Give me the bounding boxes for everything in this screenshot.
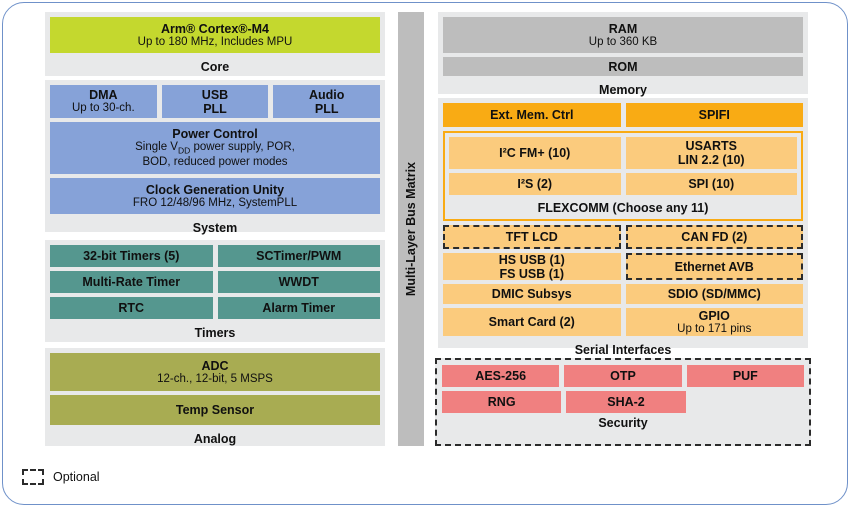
block-32bit-timers-label: 32-bit Timers (5) [83,249,179,263]
block-usb-line2: FS USB (1) [499,267,564,281]
bus-matrix-label: Multi-Layer Bus Matrix [404,162,418,296]
group-timers-title: Timers [50,323,380,345]
security-row-2: RNG SHA-2 [442,391,804,413]
block-temp-sensor[interactable]: Temp Sensor [50,395,380,425]
timers-left-col: 32-bit Timers (5) Multi-Rate Timer RTC [50,245,213,323]
block-puf-label: PUF [733,369,758,383]
block-ethernet-avb[interactable]: Ethernet AVB [626,253,804,280]
block-ram[interactable]: RAM Up to 360 KB [443,17,803,53]
block-i2c-fm-plus[interactable]: I²C FM+ (10) [449,137,621,169]
block-dma-line1: DMA [89,88,117,102]
block-i2s[interactable]: I²S (2) [449,173,621,195]
block-cortex-m4[interactable]: Arm® Cortex®-M4 Up to 180 MHz, Includes … [50,17,380,53]
block-smart-card-label: Smart Card (2) [489,315,575,329]
timers-right-col: SCTimer/PWM WWDT Alarm Timer [218,245,381,323]
block-ethernet-avb-label: Ethernet AVB [675,260,754,274]
block-clock-line2: FRO 12/48/96 MHz, SystemPLL [133,197,297,210]
block-ext-mem-ctrl-label: Ext. Mem. Ctrl [490,108,573,122]
block-usb-pll-line1: USB [202,88,228,102]
block-ram-line1: RAM [609,22,637,36]
block-aes-256-label: AES-256 [475,369,526,383]
block-multi-rate-timer[interactable]: Multi-Rate Timer [50,271,213,293]
diagram-canvas: Arm® Cortex®-M4 Up to 180 MHz, Includes … [0,0,850,507]
flexcomm-title: FLEXCOMM (Choose any 11) [449,199,797,219]
block-spifi-label: SPIFI [699,108,730,122]
flexcomm-container: I²C FM+ (10) I²S (2) USARTS LIN 2.2 (10)… [443,131,803,221]
block-wwdt-label: WWDT [279,275,319,289]
block-dma-line2: Up to 30-ch. [72,102,135,115]
block-adc-line1: ADC [201,359,228,373]
block-rng[interactable]: RNG [442,391,561,413]
block-sha-2[interactable]: SHA-2 [566,391,685,413]
group-system: DMA Up to 30-ch. USB PLL Audio PLL Power… [45,80,385,232]
interfaces-right-col: CAN FD (2) Ethernet AVB SDIO (SD/MMC) GP… [626,225,804,340]
interfaces-left-col: TFT LCD HS USB (1) FS USB (1) DMIC Subsy… [443,225,621,340]
block-ram-line2: Up to 360 KB [589,36,657,49]
interfaces-rows: TFT LCD HS USB (1) FS USB (1) DMIC Subsy… [443,225,803,340]
block-spi-label: SPI (10) [688,177,734,191]
block-can-fd-label: CAN FD (2) [681,230,747,244]
block-i2c-fm-plus-label: I²C FM+ (10) [499,146,570,160]
block-usb-pll[interactable]: USB PLL [162,85,269,118]
block-clock-generation-unity[interactable]: Clock Generation Unity FRO 12/48/96 MHz,… [50,178,380,214]
block-usb[interactable]: HS USB (1) FS USB (1) [443,253,621,280]
block-temp-sensor-label: Temp Sensor [176,403,254,417]
block-spifi[interactable]: SPIFI [626,103,804,127]
group-security-title: Security [442,413,804,435]
group-timers: 32-bit Timers (5) Multi-Rate Timer RTC S… [45,240,385,342]
block-wwdt[interactable]: WWDT [218,271,381,293]
security-row-1: AES-256 OTP PUF [442,365,804,387]
block-gpio-line2: Up to 171 pins [677,323,751,336]
block-otp[interactable]: OTP [564,365,681,387]
system-pll-row: DMA Up to 30-ch. USB PLL Audio PLL [50,85,380,118]
block-power-control[interactable]: Power Control Single VDD power supply, P… [50,122,380,174]
block-usb-line1: HS USB (1) [499,253,565,267]
block-sha-2-label: SHA-2 [607,395,645,409]
block-audio-pll-line2: PLL [315,102,339,116]
flexcomm-right-col: USARTS LIN 2.2 (10) SPI (10) [626,137,798,199]
block-dmic-subsys[interactable]: DMIC Subsys [443,284,621,304]
block-gpio[interactable]: GPIO Up to 171 pins [626,308,804,336]
block-sctimer-pwm-label: SCTimer/PWM [256,249,341,263]
interfaces-top-row: Ext. Mem. Ctrl SPIFI [443,103,803,127]
block-smart-card[interactable]: Smart Card (2) [443,308,621,336]
flexcomm-left-col: I²C FM+ (10) I²S (2) [449,137,621,199]
block-multi-rate-timer-label: Multi-Rate Timer [82,275,180,289]
legend-optional-swatch [22,469,44,485]
block-dmic-subsys-label: DMIC Subsys [492,287,572,301]
legend: Optional [22,469,100,485]
block-usarts-lin[interactable]: USARTS LIN 2.2 (10) [626,137,798,169]
block-dma[interactable]: DMA Up to 30-ch. [50,85,157,118]
block-i2s-label: I²S (2) [517,177,552,191]
block-tft-lcd[interactable]: TFT LCD [443,225,621,249]
block-usb-pll-line2: PLL [203,102,227,116]
security-row-2-spacer [691,391,804,413]
block-sdio[interactable]: SDIO (SD/MMC) [626,284,804,304]
block-adc-line2: 12-ch., 12-bit, 5 MSPS [157,373,273,386]
block-rng-label: RNG [488,395,516,409]
block-rom[interactable]: ROM [443,57,803,76]
block-audio-pll[interactable]: Audio PLL [273,85,380,118]
block-alarm-timer-label: Alarm Timer [262,301,335,315]
block-alarm-timer[interactable]: Alarm Timer [218,297,381,319]
timers-rows: 32-bit Timers (5) Multi-Rate Timer RTC S… [50,245,380,323]
block-32bit-timers[interactable]: 32-bit Timers (5) [50,245,213,267]
group-security: AES-256 OTP PUF RNG SHA-2 Security [435,358,811,446]
block-ext-mem-ctrl[interactable]: Ext. Mem. Ctrl [443,103,621,127]
block-audio-pll-line1: Audio [309,88,344,102]
block-puf[interactable]: PUF [687,365,804,387]
block-can-fd[interactable]: CAN FD (2) [626,225,804,249]
block-power-control-line2: Single VDD power supply, POR, [135,141,295,156]
group-system-title: System [50,218,380,240]
group-serial-interfaces: Ext. Mem. Ctrl SPIFI I²C FM+ (10) I²S (2… [438,98,808,348]
block-power-control-line1: Power Control [172,127,257,141]
legend-optional-label: Optional [53,470,100,484]
block-adc[interactable]: ADC 12-ch., 12-bit, 5 MSPS [50,353,380,391]
block-power-control-line3: BOD, reduced power modes [142,156,287,169]
block-sctimer-pwm[interactable]: SCTimer/PWM [218,245,381,267]
block-clock-line1: Clock Generation Unity [146,183,284,197]
group-core-title: Core [50,57,380,79]
block-aes-256[interactable]: AES-256 [442,365,559,387]
flexcomm-rows: I²C FM+ (10) I²S (2) USARTS LIN 2.2 (10)… [449,137,797,199]
group-memory: RAM Up to 360 KB ROM Memory [438,12,808,94]
block-rom-label: ROM [608,60,637,74]
group-core: Arm® Cortex®-M4 Up to 180 MHz, Includes … [45,12,385,76]
group-analog-title: Analog [50,429,380,451]
block-otp-label: OTP [610,369,636,383]
block-tft-lcd-label: TFT LCD [506,230,558,244]
block-cortex-m4-line1: Arm® Cortex®-M4 [161,22,269,36]
block-gpio-line1: GPIO [699,309,730,323]
block-cortex-m4-line2: Up to 180 MHz, Includes MPU [138,36,293,49]
group-analog: ADC 12-ch., 12-bit, 5 MSPS Temp Sensor A… [45,348,385,446]
block-rtc-label: RTC [118,301,144,315]
block-rtc[interactable]: RTC [50,297,213,319]
block-usarts-line2: LIN 2.2 (10) [678,153,745,167]
block-sdio-label: SDIO (SD/MMC) [668,287,761,301]
block-spi[interactable]: SPI (10) [626,173,798,195]
bus-matrix[interactable]: Multi-Layer Bus Matrix [398,12,424,446]
block-usarts-line1: USARTS [686,139,737,153]
